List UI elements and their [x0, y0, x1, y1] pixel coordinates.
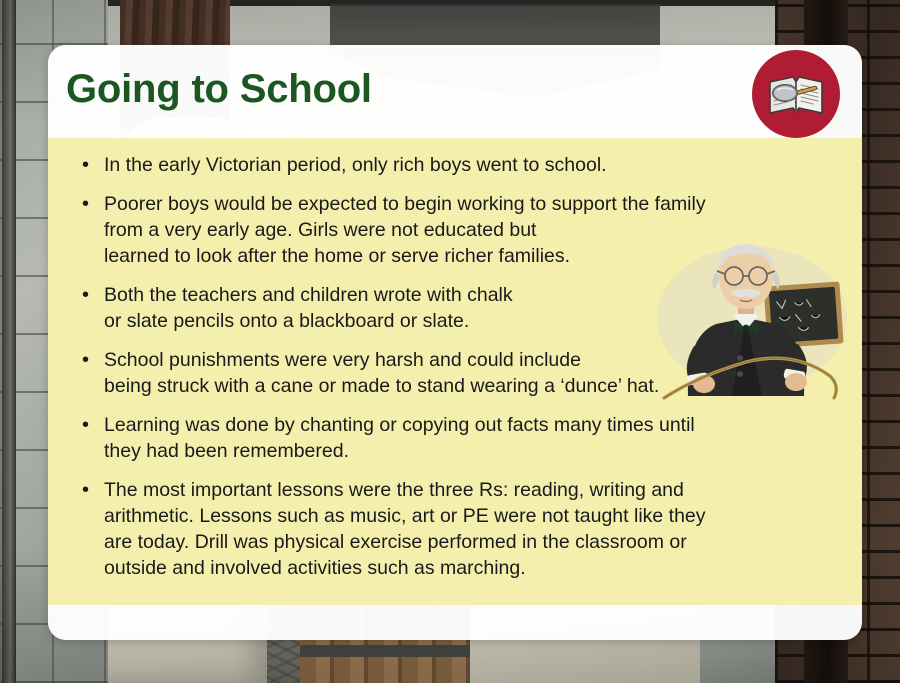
- list-item: • In the early Victorian period, only ri…: [80, 152, 838, 178]
- list-item: • Both the teachers and children wrote w…: [80, 282, 838, 334]
- bullet-dot-icon: •: [80, 191, 104, 217]
- bullet-dot-icon: •: [80, 477, 104, 503]
- book-magnifier-icon: [767, 68, 825, 120]
- page-title: Going to School: [66, 67, 372, 112]
- bullet-text-chalk-slate: Both the teachers and children wrote wit…: [104, 282, 664, 334]
- list-item: • Learning was done by chanting or copyi…: [80, 412, 838, 464]
- bullet-text-chanting: Learning was done by chanting or copying…: [104, 412, 824, 464]
- content-panel: • In the early Victorian period, only ri…: [48, 138, 862, 605]
- bullet-dot-icon: •: [80, 412, 104, 438]
- list-item: • The most important lessons were the th…: [80, 477, 838, 581]
- bullet-text-three-rs: The most important lessons were the thre…: [104, 477, 824, 581]
- list-item: • Poorer boys would be expected to begin…: [80, 191, 838, 269]
- bullet-text-punishments: School punishments were very harsh and c…: [104, 347, 704, 399]
- bullet-text-poorer-boys: Poorer boys would be expected to begin w…: [104, 191, 824, 269]
- slide-screen: Going to School: [0, 0, 900, 683]
- bullet-dot-icon: •: [80, 282, 104, 308]
- list-item: • School punishments were very harsh and…: [80, 347, 838, 399]
- bullet-dot-icon: •: [80, 347, 104, 373]
- bullet-dot-icon: •: [80, 152, 104, 178]
- bullet-list: • In the early Victorian period, only ri…: [48, 138, 862, 581]
- bullet-text-rich-boys: In the early Victorian period, only rich…: [104, 152, 824, 178]
- content-card: Going to School: [48, 45, 862, 640]
- card-footer: [48, 605, 862, 640]
- book-magnifier-badge: [752, 50, 840, 138]
- card-header: Going to School: [48, 45, 862, 138]
